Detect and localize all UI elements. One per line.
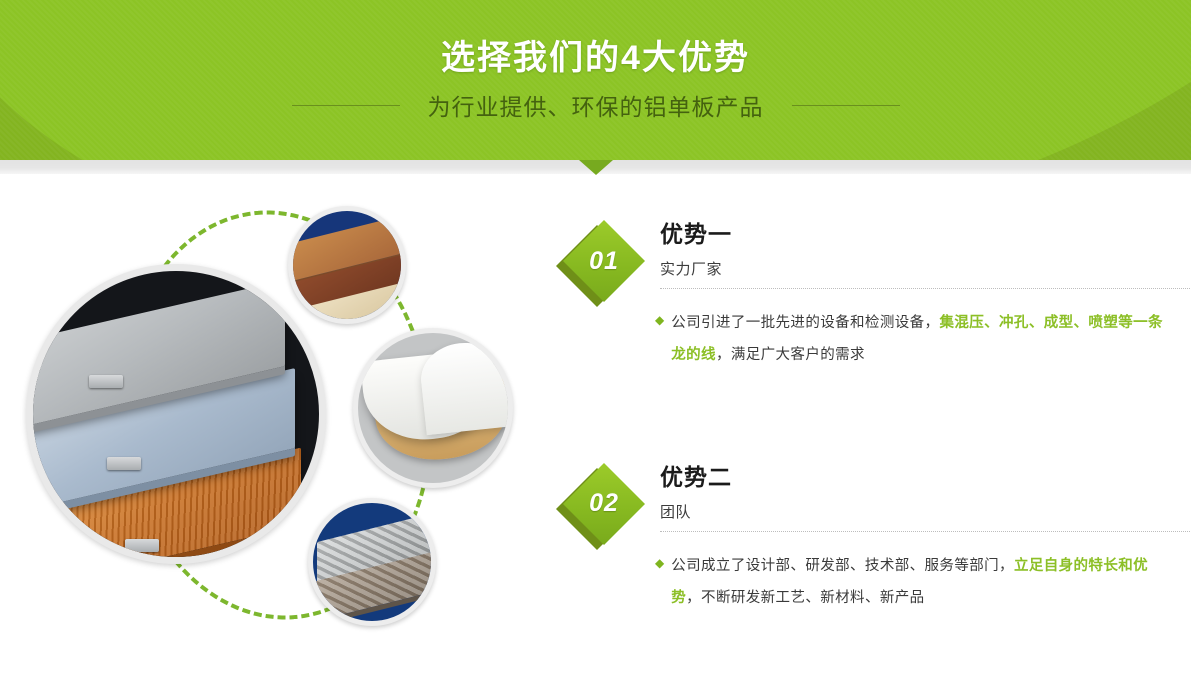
advantage-number-label: 02 bbox=[575, 475, 633, 533]
main-product-photo bbox=[26, 264, 326, 564]
thumb-photo-stone bbox=[308, 498, 436, 626]
advantage-title: 优势一 bbox=[660, 220, 1180, 249]
thumb-photo-curved bbox=[353, 328, 513, 488]
advantage-divider bbox=[660, 531, 1190, 532]
product-visual-group bbox=[18, 178, 538, 678]
advantage-number-badge-01: 01 bbox=[568, 230, 650, 312]
subtitle-rule-left bbox=[292, 105, 400, 106]
advantage-subtitle: 团队 bbox=[660, 501, 1180, 522]
advantage-subtitle: 实力厂家 bbox=[660, 258, 1180, 279]
advantage-title: 优势二 bbox=[660, 463, 1180, 492]
panel-bracket-icon bbox=[89, 375, 123, 388]
advantage-body-02: ◆ 公司成立了设计部、研发部、技术部、服务等部门，立足自身的特长和优势，不断研发… bbox=[655, 550, 1180, 614]
panel-bracket-icon bbox=[107, 457, 141, 470]
advantage-number-badge-02: 02 bbox=[568, 473, 650, 555]
banner-curve-shape bbox=[0, 0, 1191, 160]
subtitle-rule-right bbox=[792, 105, 900, 106]
page-subtitle: 为行业提供、环保的铝单板产品 bbox=[428, 88, 764, 122]
bullet-diamond-icon: ◆ bbox=[655, 307, 664, 371]
advantage-item-01: 01 优势一 实力厂家 ◆ 公司引进了一批先进的设备和检测设备，集混压、冲孔、成… bbox=[560, 220, 1180, 371]
advantage-header-01: 优势一 实力厂家 bbox=[660, 220, 1180, 289]
advantage-body-01: ◆ 公司引进了一批先进的设备和检测设备，集混压、冲孔、成型、喷塑等一条龙的线，满… bbox=[655, 307, 1180, 371]
banner-subtitle-row: 为行业提供、环保的铝单板产品 bbox=[0, 88, 1191, 122]
bullet-diamond-icon: ◆ bbox=[655, 550, 664, 614]
advantage-description: 公司成立了设计部、研发部、技术部、服务等部门，立足自身的特长和优势，不断研发新工… bbox=[671, 550, 1171, 614]
banner-notch-arrow-icon bbox=[579, 160, 613, 175]
page-title: 选择我们的4大优势 bbox=[0, 30, 1191, 79]
advantage-list: 01 优势一 实力厂家 ◆ 公司引进了一批先进的设备和检测设备，集混压、冲孔、成… bbox=[560, 220, 1180, 642]
page-root: 选择我们的4大优势 为行业提供、环保的铝单板产品 bbox=[0, 0, 1191, 693]
advantage-description: 公司引进了一批先进的设备和检测设备，集混压、冲孔、成型、喷塑等一条龙的线，满足广… bbox=[671, 307, 1171, 371]
advantage-divider bbox=[660, 288, 1190, 289]
advantage-number-label: 01 bbox=[575, 232, 633, 290]
advantage-header-02: 优势二 团队 bbox=[660, 463, 1180, 532]
page-banner: 选择我们的4大优势 为行业提供、环保的铝单板产品 bbox=[0, 0, 1191, 160]
panel-bracket-icon bbox=[125, 539, 159, 552]
thumb-photo-wood bbox=[288, 206, 406, 324]
advantage-item-02: 02 优势二 团队 ◆ 公司成立了设计部、研发部、技术部、服务等部门，立足自身的… bbox=[560, 463, 1180, 614]
